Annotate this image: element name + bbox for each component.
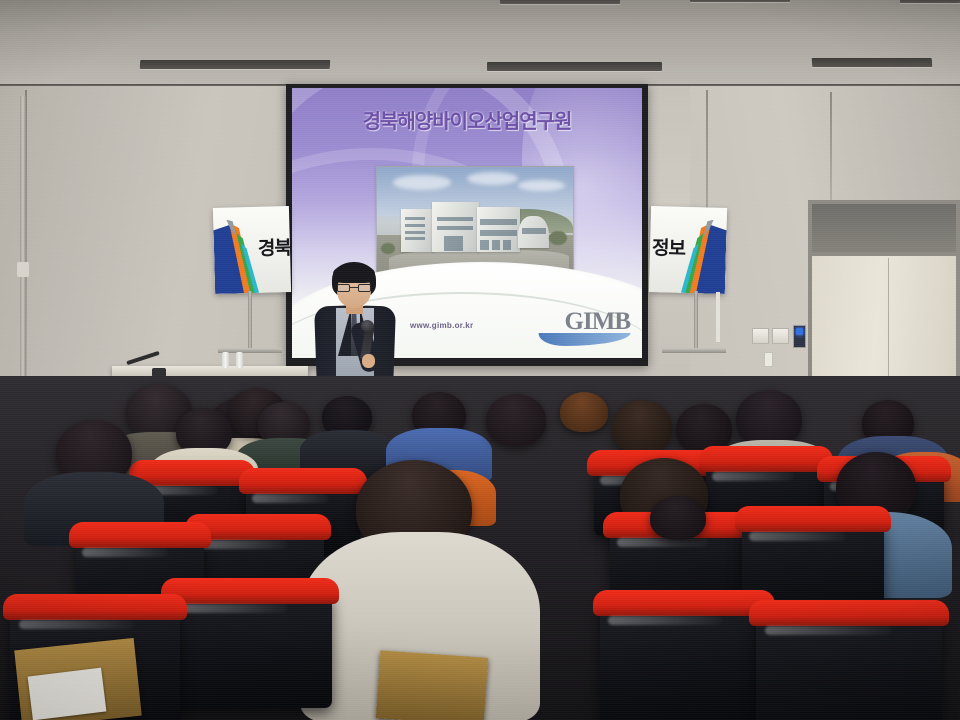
ceiling-vent-icon <box>690 0 790 2</box>
audience-head <box>612 400 672 454</box>
ceiling-vent-icon <box>900 0 960 3</box>
banner-left: 경북 <box>213 206 291 294</box>
photo-building <box>477 207 520 252</box>
slide-title: 경북해양바이오산업연구원 <box>292 105 642 134</box>
glasses-icon <box>337 284 371 292</box>
light-switch[interactable] <box>772 328 789 344</box>
wall-pipe <box>20 96 26 396</box>
audience-area <box>0 376 960 720</box>
photo-building <box>401 209 434 251</box>
ceiling-vent-icon <box>500 0 620 4</box>
banner-left-text: 경북 <box>258 233 289 261</box>
pipe-clamp <box>17 262 29 277</box>
folding-desk <box>376 650 488 720</box>
auditorium-seat[interactable] <box>168 590 332 708</box>
slide-building-photo <box>376 166 574 274</box>
audience-head <box>560 392 608 432</box>
ceiling-vent-icon <box>140 60 330 69</box>
photo-building <box>432 202 479 252</box>
auditorium-seat[interactable] <box>756 612 942 720</box>
audience-head <box>486 394 546 446</box>
auditorium-seat[interactable] <box>600 602 768 720</box>
door-transom-window <box>812 204 956 252</box>
audience-head <box>650 496 706 540</box>
banner-strap <box>716 292 720 342</box>
access-led-icon <box>796 328 803 335</box>
ceiling-vent-icon <box>812 58 933 67</box>
wall-seam <box>830 92 832 212</box>
gimb-swoosh-icon <box>537 333 630 346</box>
water-bottle <box>222 352 229 368</box>
slide-url: www.gimb.or.kr <box>410 321 473 330</box>
photo-cloud <box>467 172 518 185</box>
wall-outlet-plate <box>764 352 773 367</box>
presenter-hand <box>362 354 375 368</box>
presenter-hair-front <box>333 264 375 283</box>
ceiling-vent-icon <box>487 62 662 71</box>
water-bottle <box>236 352 243 368</box>
gimb-logo-text: GIMB <box>538 308 630 336</box>
auditorium-photo: 경북해양바이오산업연구원 <box>0 0 960 720</box>
banner-right-text: 정보 <box>652 233 683 261</box>
banner-rainbow-graphic <box>213 207 259 294</box>
banner-base <box>662 348 726 353</box>
photo-building <box>518 216 549 248</box>
light-switch[interactable] <box>752 328 769 344</box>
ceiling <box>0 0 960 88</box>
banner-rainbow-graphic <box>681 207 727 294</box>
gimb-logo: GIMB <box>538 308 630 346</box>
banner-right: 정보 <box>649 206 727 294</box>
photo-tree <box>381 243 395 254</box>
handout-paper <box>28 668 107 720</box>
banner-pole <box>694 291 698 349</box>
banner-pole <box>248 291 252 349</box>
